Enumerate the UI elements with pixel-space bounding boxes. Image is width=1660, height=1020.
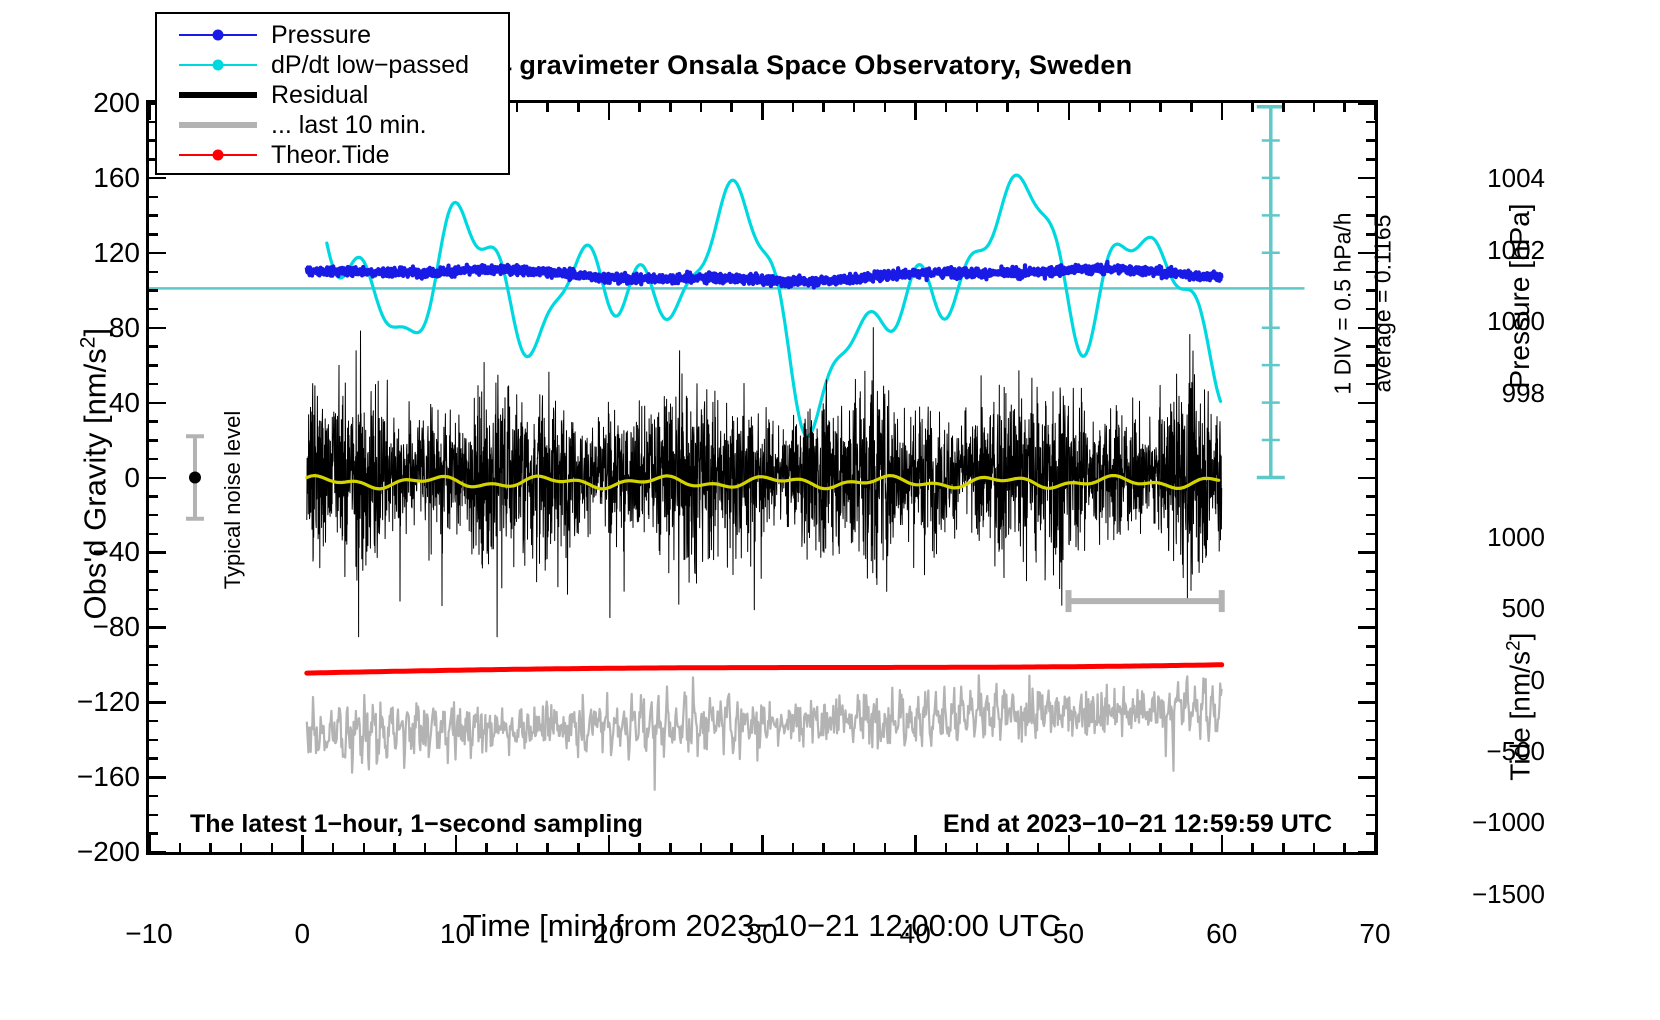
note-end-time: End at 2023−10−21 12:59:59 UTC xyxy=(943,810,1332,839)
legend-line xyxy=(179,92,257,98)
dpdt-scale-bar xyxy=(1257,107,1285,478)
legend-item-3[interactable]: ... last 10 min. xyxy=(157,110,508,140)
y-axis-title: Obs'd Gravity [nm/s2] xyxy=(76,164,113,784)
legend-item-2[interactable]: Residual xyxy=(157,80,508,110)
average-label: average = 0.1165 xyxy=(1370,179,1397,429)
y-axis-title-suffix: ] xyxy=(78,328,113,337)
y-axis-title-sup: 2 xyxy=(76,337,99,349)
legend-item-0[interactable]: Pressure xyxy=(157,20,508,50)
legend-dot-icon xyxy=(213,150,224,161)
legend-swatch-icon xyxy=(179,55,257,75)
plot-canvas xyxy=(149,103,1375,852)
pressure-series xyxy=(307,262,1222,288)
tide-axis-title-text: Tide [nm/s xyxy=(1505,651,1536,781)
tide-axis-title: Tide [nm/s2] xyxy=(1503,537,1536,877)
legend-label: dP/dt low−passed xyxy=(271,51,469,80)
noise-center-dot xyxy=(189,472,201,484)
legend-item-4[interactable]: Theor.Tide xyxy=(157,140,508,170)
legend-line xyxy=(179,122,257,128)
legend-item-1[interactable]: dP/dt low−passed xyxy=(157,50,508,80)
tide-axis-title-suffix: ] xyxy=(1505,633,1536,641)
dpdt-lowpassed-series xyxy=(327,175,1221,436)
legend-swatch-icon xyxy=(179,85,257,105)
legend-dot-icon xyxy=(213,60,224,71)
x-axis-title: Time [min] from 2023−10−21 12:00:00 UTC xyxy=(146,908,1378,944)
last-10-min-span-marker xyxy=(1069,590,1222,612)
tide-tick-label: −1500 xyxy=(1395,881,1545,907)
legend-dot-icon xyxy=(213,30,224,41)
y-tick-label: 200 xyxy=(22,89,140,117)
legend-label: Residual xyxy=(271,81,368,110)
last-10-min-series xyxy=(307,675,1222,790)
legend-swatch-icon xyxy=(179,25,257,45)
residual-series xyxy=(307,328,1222,637)
y-tick-label: −200 xyxy=(22,838,140,866)
y-axis-title-text: Obs'd Gravity [nm/s xyxy=(78,348,113,619)
pressure-axis-title: Pressure [hPa] xyxy=(1504,106,1536,486)
note-sampling: The latest 1−hour, 1−second sampling xyxy=(190,810,643,839)
legend[interactable]: PressuredP/dt low−passedResidual... last… xyxy=(155,12,510,175)
legend-label: Theor.Tide xyxy=(271,141,390,170)
legend-swatch-icon xyxy=(179,145,257,165)
tide-axis-title-sup: 2 xyxy=(1503,640,1524,651)
div-scale-label: 1 DIV = 0.5 hPa/h xyxy=(1330,179,1357,429)
plot-area[interactable] xyxy=(146,100,1378,855)
theor-tide-series xyxy=(307,665,1222,673)
noise-level-label: Typical noise level xyxy=(220,405,246,595)
legend-label: Pressure xyxy=(271,21,371,50)
legend-label: ... last 10 min. xyxy=(271,111,427,140)
y-axis-tick-labels: 20016012080400−40−80−120−160−200 xyxy=(0,0,140,1020)
legend-swatch-icon xyxy=(179,115,257,135)
typical-noise-level-errorbar xyxy=(186,436,204,518)
